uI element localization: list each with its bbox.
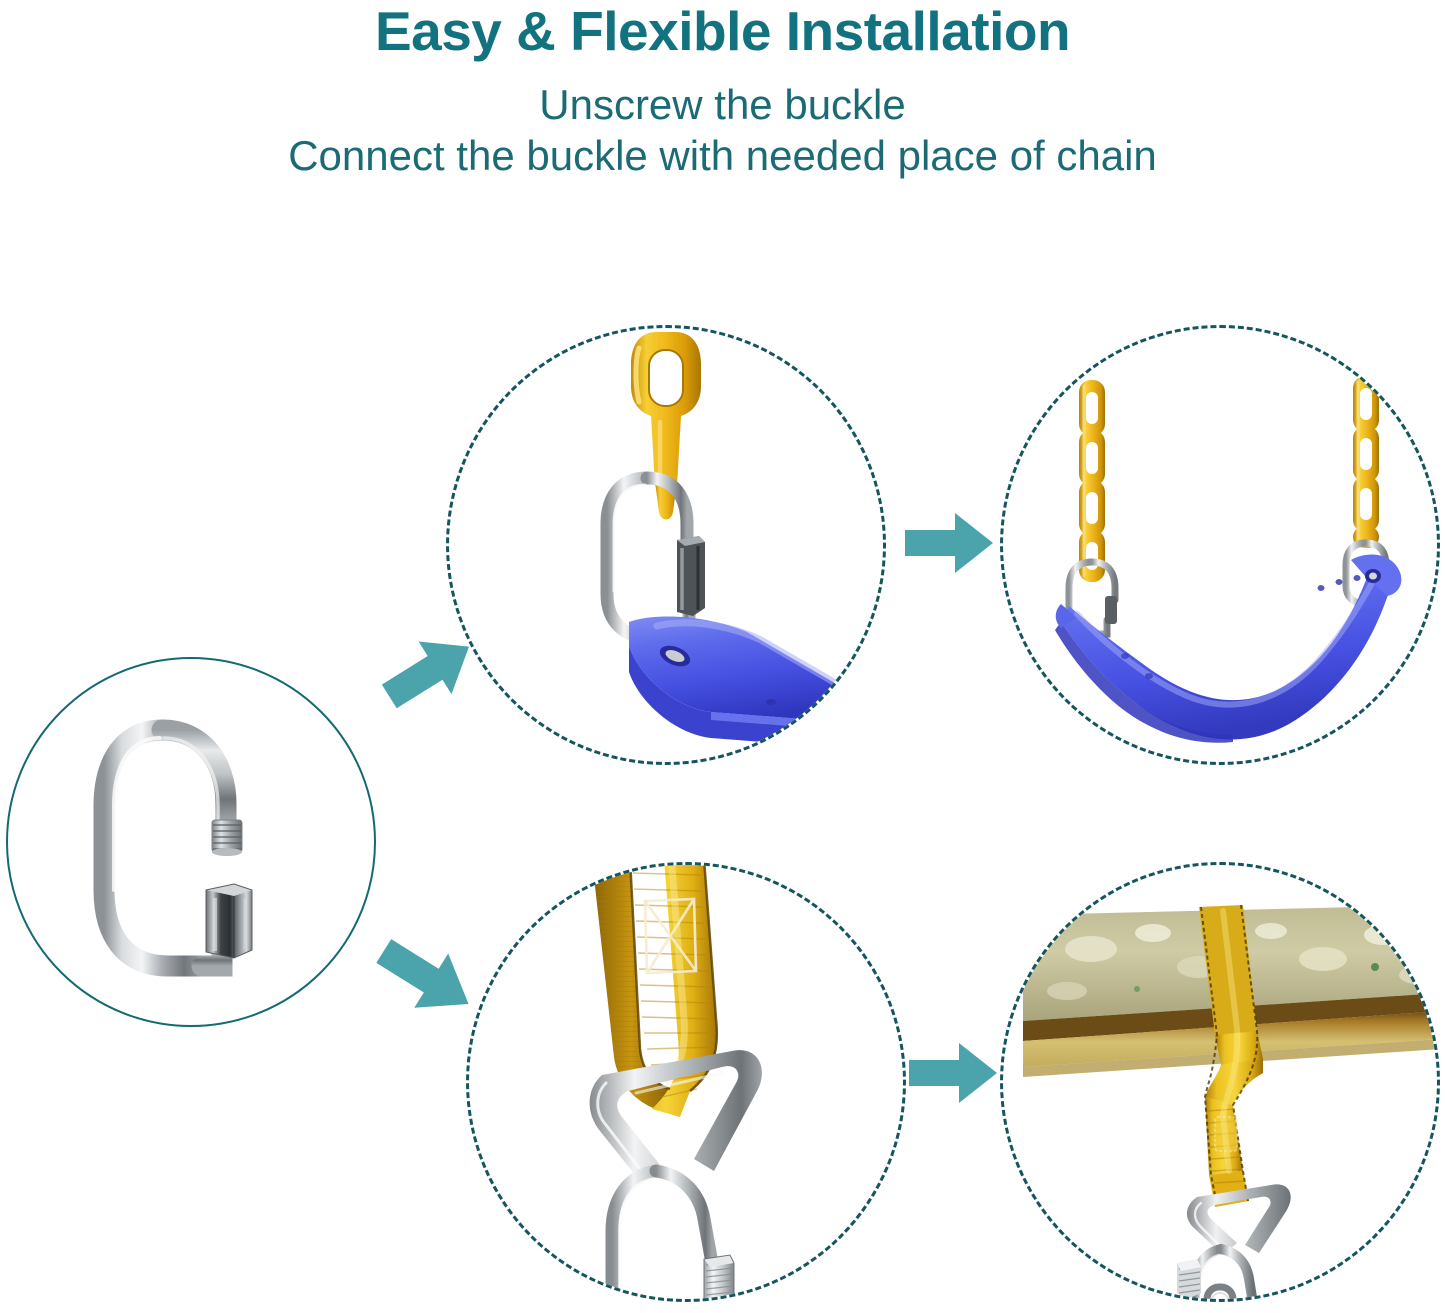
arrow-down-right [372, 935, 482, 1021]
step-2-circle-buckle-seat [446, 325, 886, 765]
subtitle-line-1: Unscrew the buckle [0, 79, 1445, 130]
arrow-right-top [903, 507, 995, 579]
yellow-strap-carabiner-icon [544, 865, 844, 1299]
step-1-clip [8, 659, 374, 1025]
step-3-circle-assembled-swing [1000, 325, 1440, 765]
hex-nut-sleeve [206, 884, 252, 958]
infographic-page: Easy & Flexible Installation Unscrew the… [0, 0, 1445, 1313]
step-4-circle-strap-carabiner [466, 862, 906, 1302]
carabiner-quick-link-icon [94, 694, 304, 994]
yellow-chain-link [631, 332, 701, 520]
left-yellow-chain [1079, 380, 1105, 582]
step-5-clip [1003, 865, 1437, 1299]
delta-ring-bottom [1187, 1184, 1291, 1255]
arrow-right-bottom [907, 1037, 999, 1109]
screw-lock-sleeve [704, 1255, 734, 1299]
locking-carabiner [612, 1171, 734, 1299]
chain-link-below [1207, 1287, 1233, 1299]
thread-detail [212, 820, 242, 856]
page-title: Easy & Flexible Installation [0, 4, 1445, 59]
arrow-up-right [378, 630, 482, 712]
step-2-clip [449, 328, 883, 762]
hanging-locking-carabiner [1177, 1249, 1253, 1299]
swing-seat-with-chains-icon [1021, 338, 1437, 758]
subtitle-line-2: Connect the buckle with needed place of … [0, 130, 1445, 181]
screw-lock-sleeve-bottom [1177, 1259, 1201, 1299]
chain-link-carabiner-seat-icon [479, 328, 883, 762]
step-3-clip [1003, 328, 1437, 762]
step-4-clip [469, 865, 903, 1299]
step-1-circle-quick-link [6, 657, 376, 1027]
step-5-circle-strap-on-branch [1000, 862, 1440, 1302]
blue-swing-seat [629, 617, 879, 750]
right-yellow-chain [1353, 376, 1379, 548]
quick-link-carabiner [607, 478, 705, 638]
subtitle-block: Unscrew the buckle Connect the buckle wi… [0, 79, 1445, 181]
strap-around-branch-icon [1003, 871, 1437, 1299]
header: Easy & Flexible Installation Unscrew the… [0, 0, 1445, 181]
